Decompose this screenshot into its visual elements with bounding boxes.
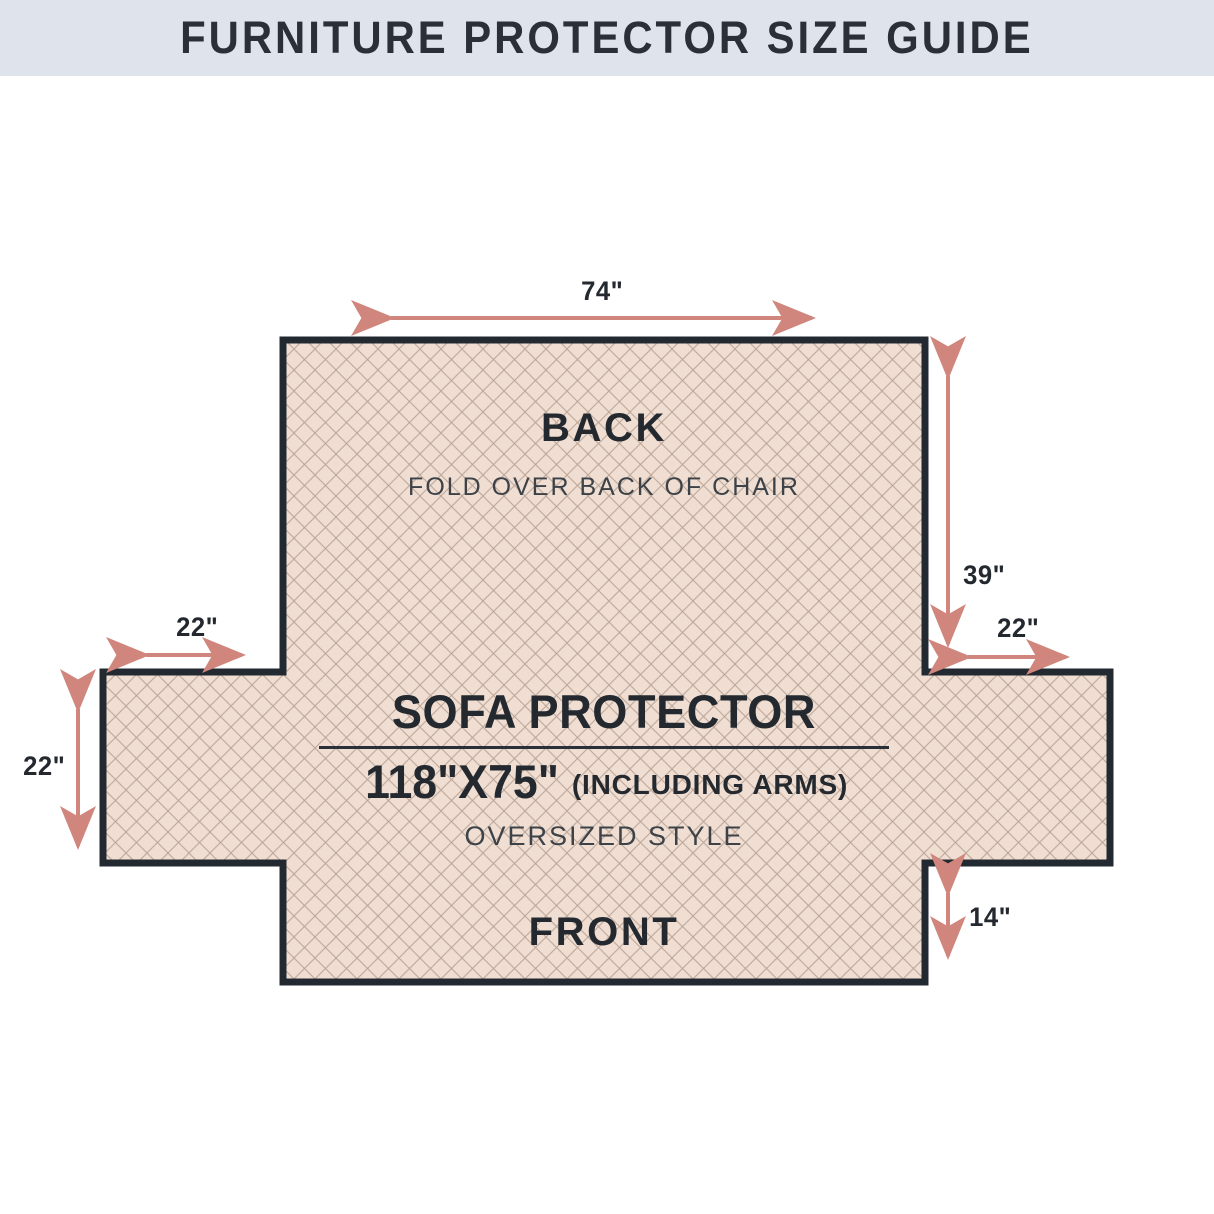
size-guide-page: FURNITURE PROTECTOR SIZE GUIDE (0, 0, 1214, 1214)
page-title: FURNITURE PROTECTOR SIZE GUIDE (180, 12, 1033, 64)
title-divider (319, 746, 889, 749)
size-row: 118"X75"(INCLUDING ARMS) (283, 754, 925, 809)
protector-diagram: BACK FOLD OVER BACK OF CHAIR SOFA PROTEC… (0, 76, 1214, 1214)
style-label: OVERSIZED STYLE (283, 821, 925, 852)
dimension-label-arm-left-height: 22" (23, 751, 65, 782)
center-label-block: SOFA PROTECTOR 118"X75"(INCLUDING ARMS) … (283, 684, 925, 852)
product-name: SOFA PROTECTOR (296, 684, 912, 739)
dimension-label-arm-right-width: 22" (997, 613, 1039, 644)
page-header: FURNITURE PROTECTOR SIZE GUIDE (0, 0, 1214, 76)
dimension-label-front-height: 14" (969, 902, 1011, 933)
dimension-label-back-height: 39" (963, 560, 1005, 591)
size-value: 118"X75" (365, 754, 559, 809)
dimension-label-back-width: 74" (581, 276, 623, 307)
size-note: (INCLUDING ARMS) (572, 769, 848, 801)
protector-shape (103, 340, 1110, 982)
dimension-label-arm-left-width: 22" (176, 612, 218, 643)
diagram-svg (0, 76, 1214, 1214)
